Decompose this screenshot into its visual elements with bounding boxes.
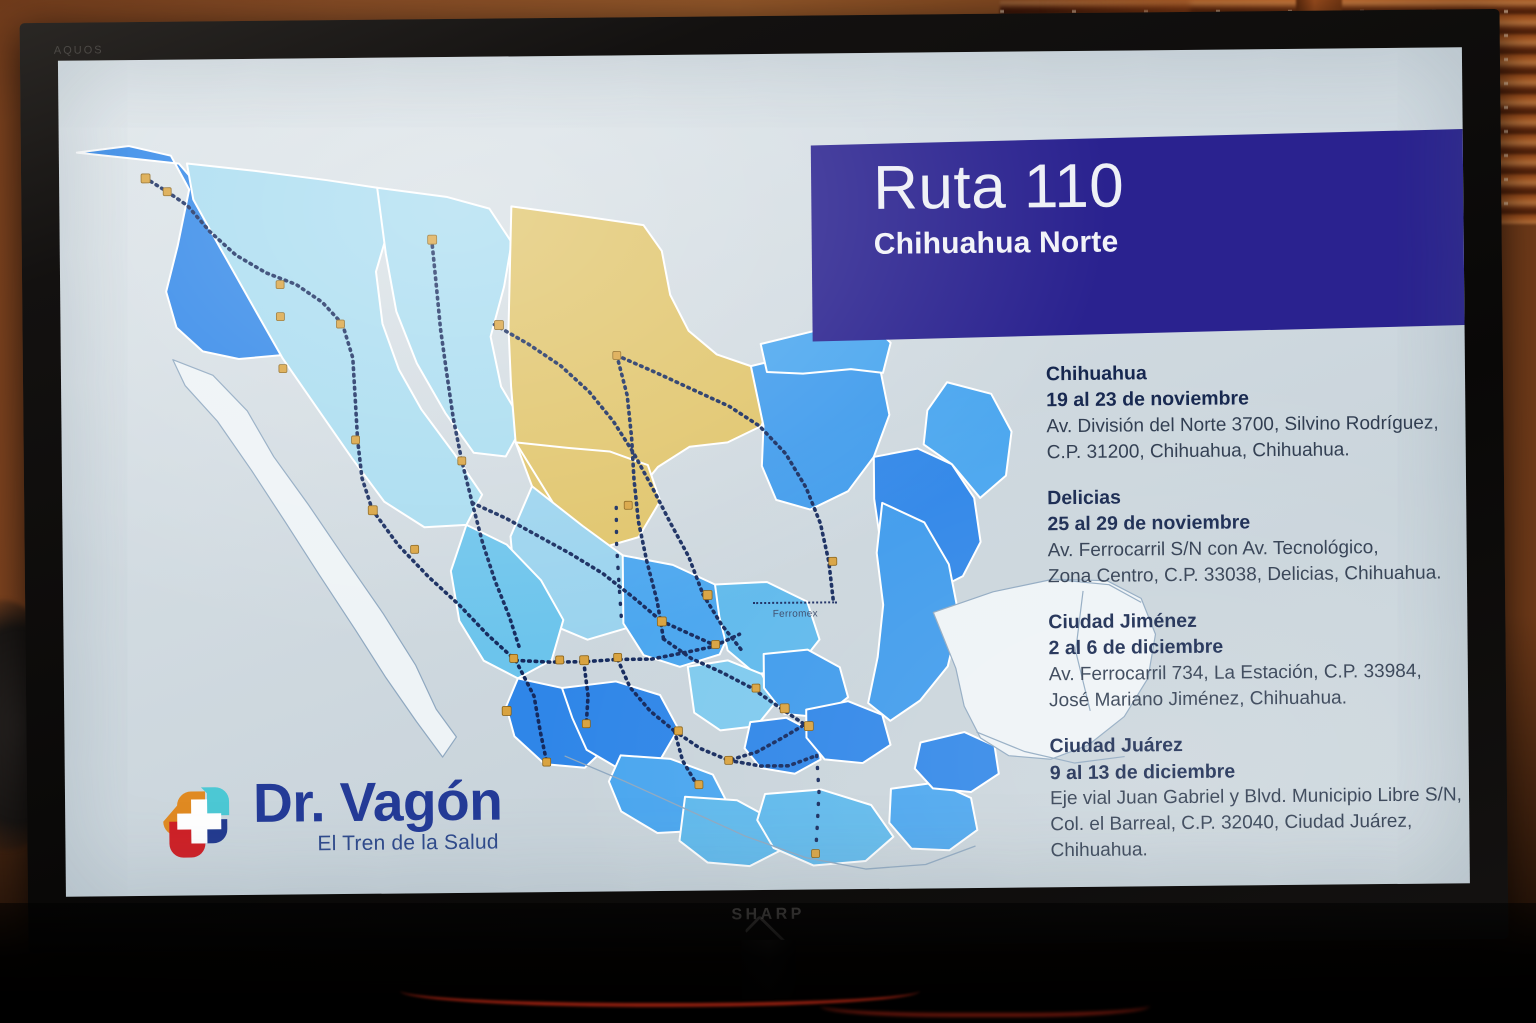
schedule-dates: 9 al 13 de diciembre [1050,755,1470,786]
dr-vagon-logo: Dr. Vagón El Tren de la Salud [161,775,503,860]
schedule-address-line: Zona Centro, C.P. 33038, Delicias, Chihu… [1048,560,1470,590]
schedule-entry: Chihuahua 19 al 23 de noviembre Av. Divi… [1046,357,1470,466]
slide-title-banner: Ruta 110 Chihuahua Norte [811,129,1465,341]
legend-rail-line-icon [753,601,837,604]
schedule-address-line: Eje vial Juan Gabriel y Blvd. Municipio … [1050,782,1470,813]
power-cable [820,989,1150,1017]
schedule-dates: 25 al 29 de noviembre [1047,508,1470,538]
schedule-city: Ciudad Juárez [1049,729,1469,760]
photograph-of-tv-display: AQUOS [0,0,1536,1023]
schedule-dates: 19 al 23 de noviembre [1046,383,1470,413]
schedule-address-line: C.P. 31200, Chihuahua, Chihuahua. [1047,436,1470,466]
television: AQUOS [20,9,1509,953]
schedule-list: Chihuahua 19 al 23 de noviembre Av. Divi… [1046,357,1470,884]
medical-cross-pinwheel-icon [161,783,238,860]
tv-bezel: AQUOS [20,9,1509,953]
legend-label: Ferromex [753,608,837,620]
logo-tagline: El Tren de la Salud [317,830,502,856]
map-legend-ferromex: Ferromex [753,601,837,620]
schedule-entry: Ciudad Juárez 9 al 13 de diciembre Eje v… [1049,729,1469,865]
schedule-address-line: José Mariano Jiménez, Chihuahua. [1049,684,1470,714]
schedule-address-line: Av. Ferrocarril 734, La Estación, C.P. 3… [1049,658,1470,688]
schedule-entry: Delicias 25 al 29 de noviembre Av. Ferro… [1047,481,1470,590]
schedule-city: Chihuahua [1046,357,1470,387]
schedule-address-line: Av. División del Norte 3700, Silvino Rod… [1046,410,1470,440]
schedule-dates: 2 al 6 de diciembre [1048,632,1469,662]
schedule-address-line: Chihuahua. [1050,834,1469,865]
schedule-city: Delicias [1047,481,1470,511]
schedule-address-line: Col. el Barreal, C.P. 32040, Ciudad Juár… [1050,808,1470,839]
schedule-city: Ciudad Jiménez [1048,605,1470,635]
route-title: Ruta 110 [873,152,1464,220]
logo-name: Dr. Vagón [253,775,503,831]
schedule-entry: Ciudad Jiménez 2 al 6 de diciembre Av. F… [1048,605,1470,714]
aquos-logo: AQUOS [54,44,104,56]
schedule-address-line: Av. Ferrocarril S/N con Av. Tecnológico, [1048,534,1470,564]
route-subtitle: Chihuahua Norte [874,222,1464,262]
tv-screen: Ferromex Ruta 110 Chihuahua Norte Chihua… [58,47,1470,896]
